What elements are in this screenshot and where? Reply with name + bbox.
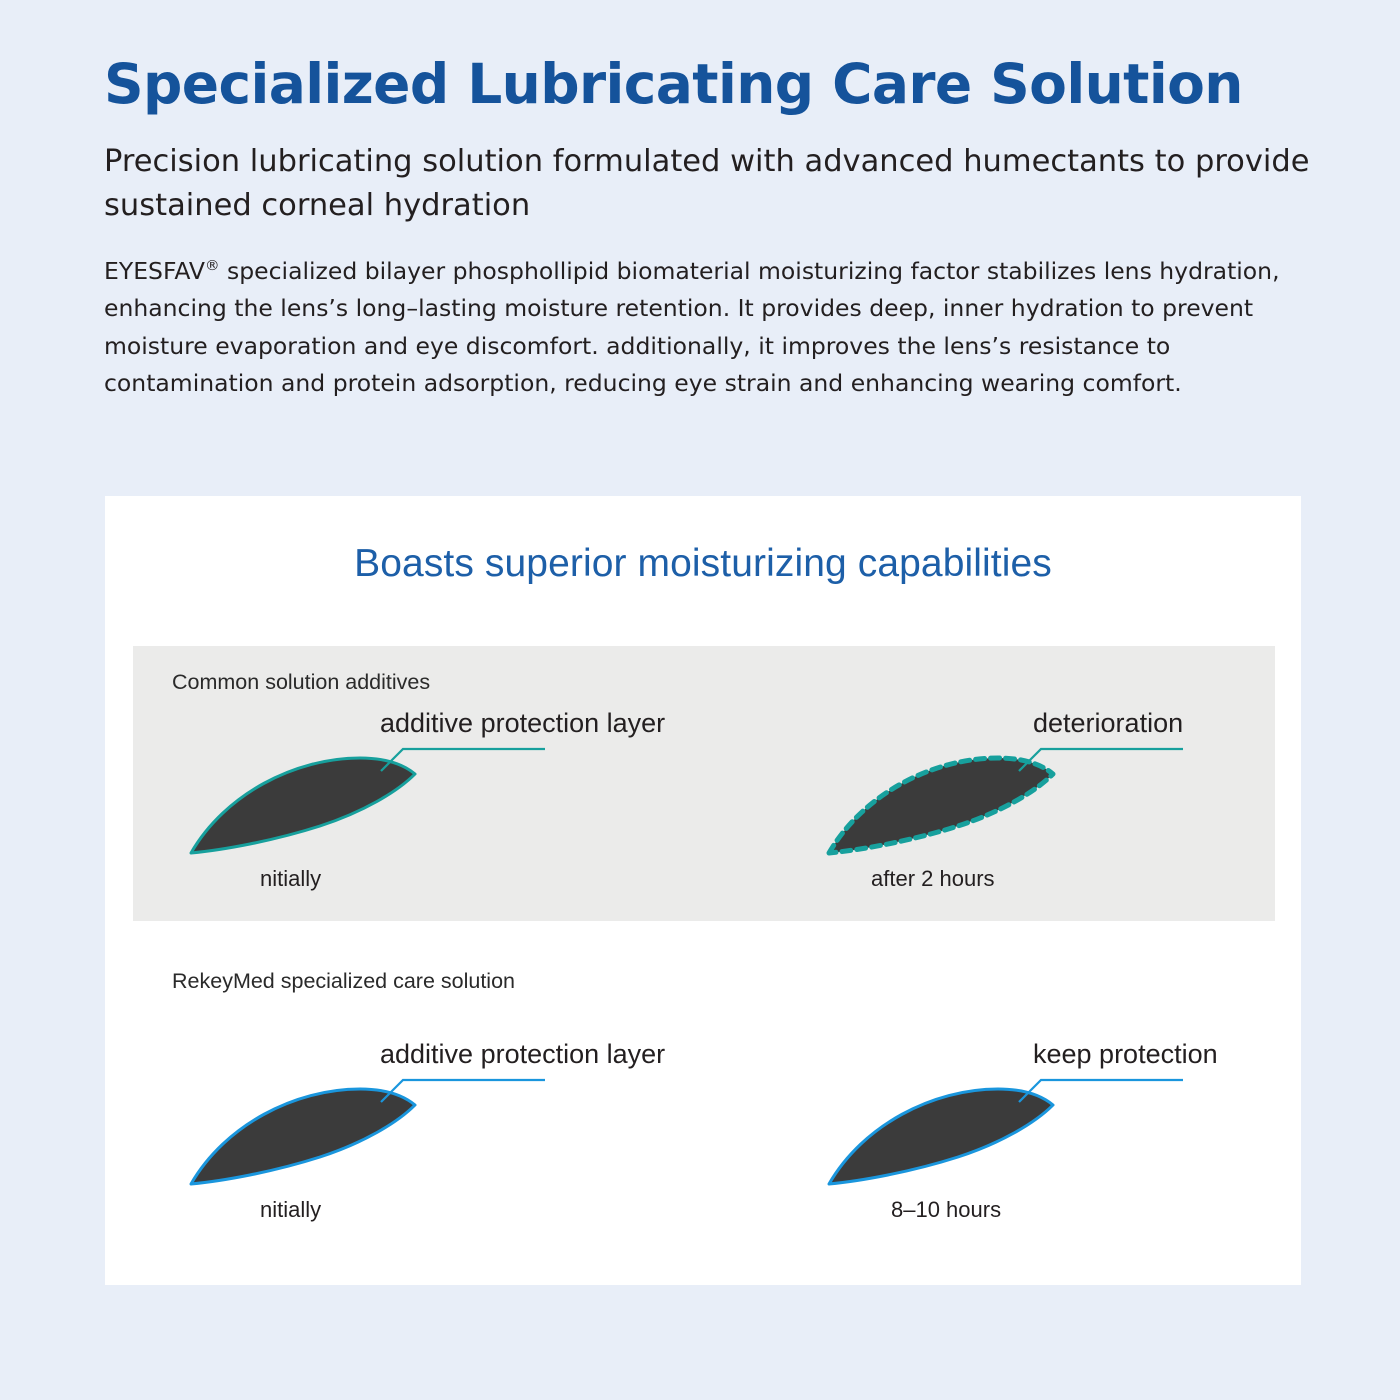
callout-label: additive protection layer (380, 708, 665, 739)
lens-shape-deteriorated (829, 758, 1053, 853)
caption-label: nitially (260, 1197, 321, 1223)
figure-rekeymed-initial: additive protection layer nitially (185, 1039, 655, 1244)
caption-label: after 2 hours (871, 866, 995, 892)
card-title: Boasts superior moisturizing capabilitie… (105, 496, 1301, 586)
lens-shape (191, 1089, 415, 1184)
panel-label-rekeymed: RekeyMed specialized care solution (172, 969, 515, 994)
page-title: Specialized Lubricating Care Solution (104, 52, 1336, 117)
lens-shape (191, 758, 415, 853)
page-body-text: specialized bilayer phosphollipid biomat… (104, 257, 1280, 398)
figure-common-after-2-hours: deterioration after 2 hours (823, 708, 1293, 913)
figure-rekeymed-8-10-hours: keep protection 8–10 hours (823, 1039, 1293, 1244)
panel-label-common: Common solution additives (172, 670, 430, 695)
panel-common-solution: Common solution additives additive prote… (133, 646, 1275, 921)
panel-rekeymed-solution: RekeyMed specialized care solution addit… (133, 951, 1275, 1261)
callout-label: keep protection (1033, 1039, 1218, 1070)
figure-common-initial: additive protection layer nitially (185, 708, 655, 913)
registered-trademark-icon: ® (205, 257, 220, 274)
callout-label: additive protection layer (380, 1039, 665, 1070)
page-body-paragraph: EYESFAV® specialized bilayer phosphollip… (104, 253, 1319, 403)
page-subtitle: Precision lubricating solution formulate… (104, 140, 1336, 228)
lens-shape (829, 1089, 1053, 1184)
caption-label: 8–10 hours (891, 1197, 1001, 1223)
callout-label: deterioration (1033, 708, 1183, 739)
brand-name: EYESFAV (104, 257, 205, 285)
caption-label: nitially (260, 866, 321, 892)
page-header: Specialized Lubricating Care Solution Pr… (104, 52, 1336, 403)
comparison-card: Boasts superior moisturizing capabilitie… (105, 496, 1301, 1285)
